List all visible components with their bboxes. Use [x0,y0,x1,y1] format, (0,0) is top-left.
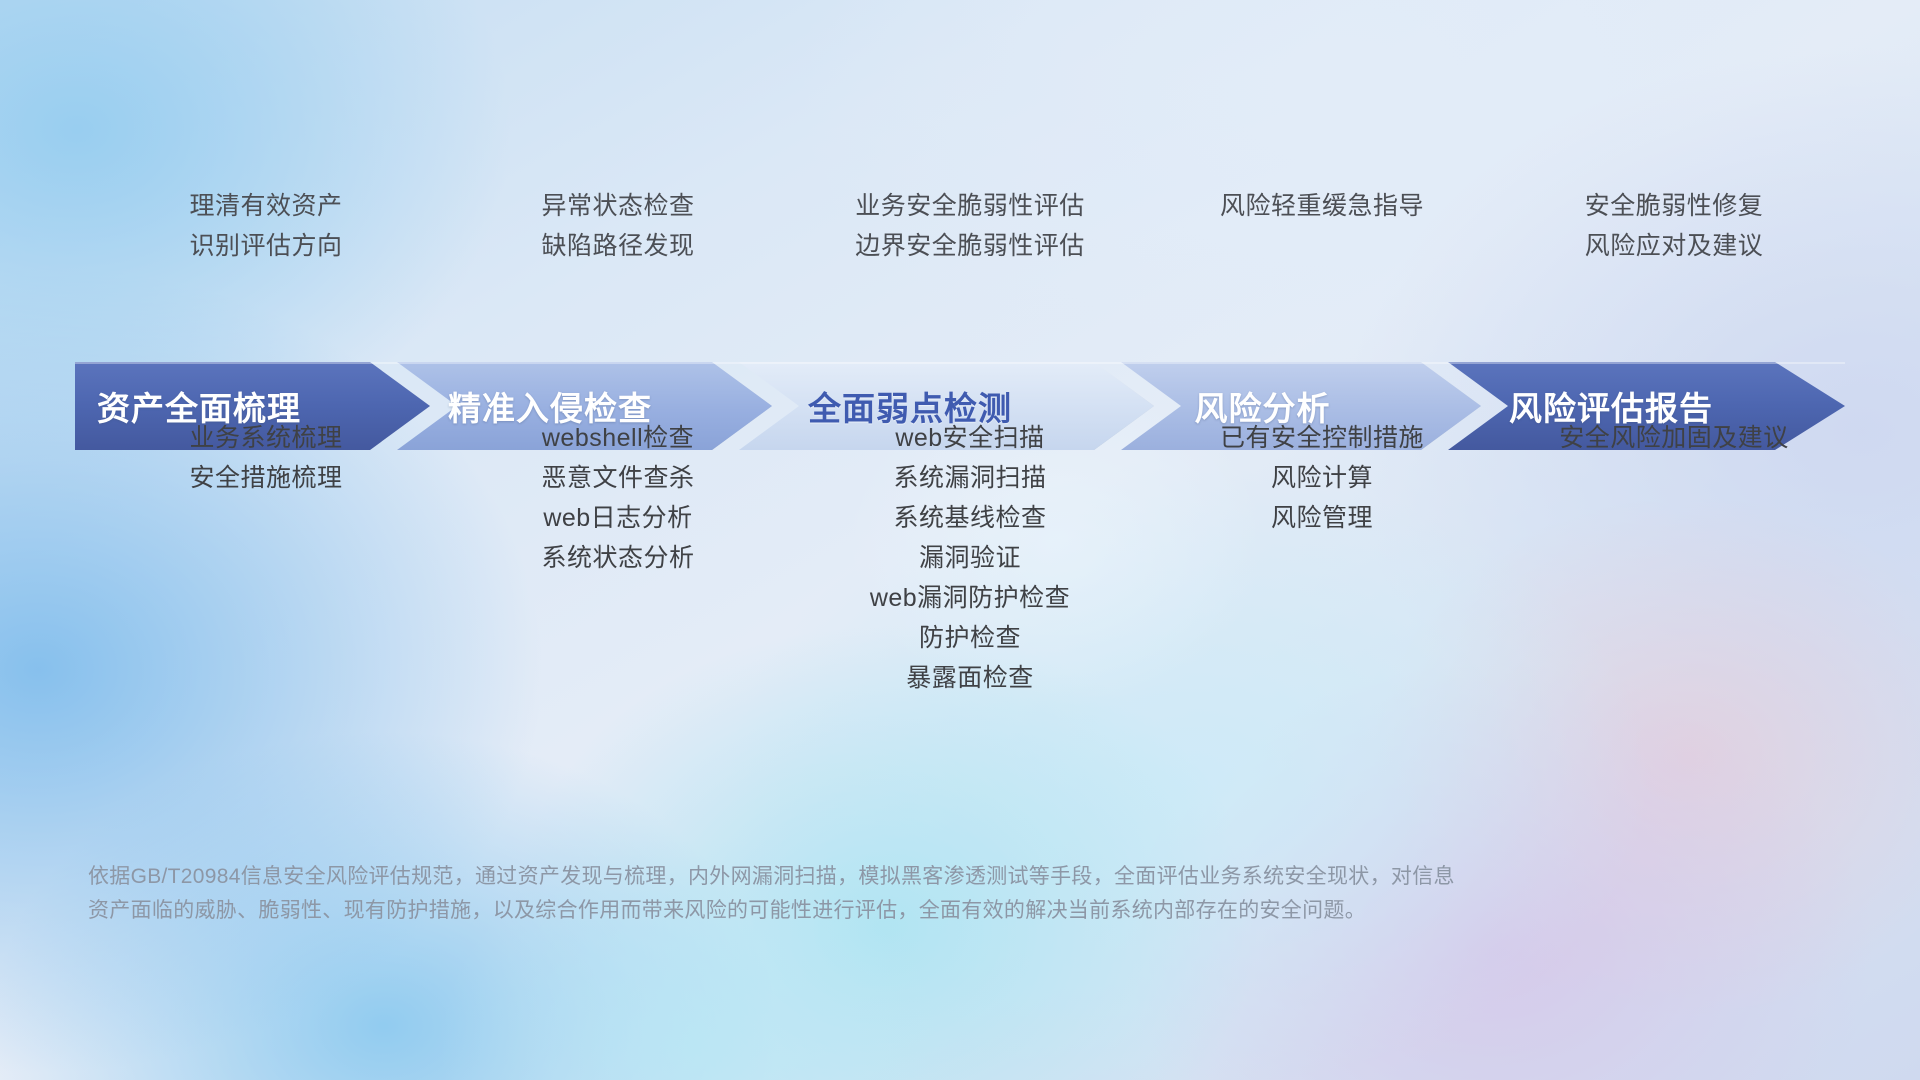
outcome-text: 理清有效资产 [90,186,442,226]
activities-column-1: 业务系统梳理 安全措施梳理 [90,418,442,698]
process-diagram: 理清有效资产 识别评估方向 异常状态检查 缺陷路径发现 业务安全脆弱性评估 边界… [0,0,1920,1080]
outcomes-column-2: 异常状态检查 缺陷路径发现 [442,186,794,266]
activity-text: 已有安全控制措施 [1146,418,1498,458]
activity-text: 暴露面检查 [794,658,1146,698]
outcomes-column-5: 安全脆弱性修复 风险应对及建议 [1498,186,1850,266]
activities-column-3: web安全扫描 系统漏洞扫描 系统基线检查 漏洞验证 web漏洞防护检查 防护检… [794,418,1146,698]
activity-text: 安全措施梳理 [90,458,442,498]
activities-column-4: 已有安全控制措施 风险计算 风险管理 [1146,418,1498,698]
activity-text: web安全扫描 [794,418,1146,458]
activities-column-5: 安全风险加固及建议 [1498,418,1850,698]
activity-text: 恶意文件查杀 [442,458,794,498]
outcome-text: 安全脆弱性修复 [1498,186,1850,226]
activity-text: web漏洞防护检查 [794,578,1146,618]
outcome-text: 风险应对及建议 [1498,226,1850,266]
description-line-1: 依据GB/T20984信息安全风险评估规范，通过资产发现与梳理，内外网漏洞扫描，… [88,860,1508,894]
activity-text: 漏洞验证 [794,538,1146,578]
activities-row: 业务系统梳理 安全措施梳理 webshell检查 恶意文件查杀 web日志分析 … [90,418,1850,698]
activity-text: 系统漏洞扫描 [794,458,1146,498]
description-line-2: 资产面临的威胁、脆弱性、现有防护措施，以及综合作用而带来风险的可能性进行评估，全… [88,894,1508,928]
activity-text: 系统状态分析 [442,538,794,578]
outcome-text: 识别评估方向 [90,226,442,266]
outcomes-column-4: 风险轻重缓急指导 [1146,186,1498,266]
activity-text: 风险计算 [1146,458,1498,498]
activity-text: 业务系统梳理 [90,418,442,458]
outcomes-column-3: 业务安全脆弱性评估 边界安全脆弱性评估 [794,186,1146,266]
activity-text: webshell检查 [442,418,794,458]
activity-text: 防护检查 [794,618,1146,658]
activity-text: web日志分析 [442,498,794,538]
outcome-text: 边界安全脆弱性评估 [794,226,1146,266]
description-paragraph: 依据GB/T20984信息安全风险评估规范，通过资产发现与梳理，内外网漏洞扫描，… [88,860,1508,928]
activity-text: 安全风险加固及建议 [1498,418,1850,458]
outcome-text: 缺陷路径发现 [442,226,794,266]
outcomes-column-1: 理清有效资产 识别评估方向 [90,186,442,266]
activity-text: 风险管理 [1146,498,1498,538]
activities-column-2: webshell检查 恶意文件查杀 web日志分析 系统状态分析 [442,418,794,698]
outcome-text: 业务安全脆弱性评估 [794,186,1146,226]
outcome-text: 异常状态检查 [442,186,794,226]
outcome-text: 风险轻重缓急指导 [1146,186,1498,226]
outcomes-row: 理清有效资产 识别评估方向 异常状态检查 缺陷路径发现 业务安全脆弱性评估 边界… [90,186,1850,266]
activity-text: 系统基线检查 [794,498,1146,538]
